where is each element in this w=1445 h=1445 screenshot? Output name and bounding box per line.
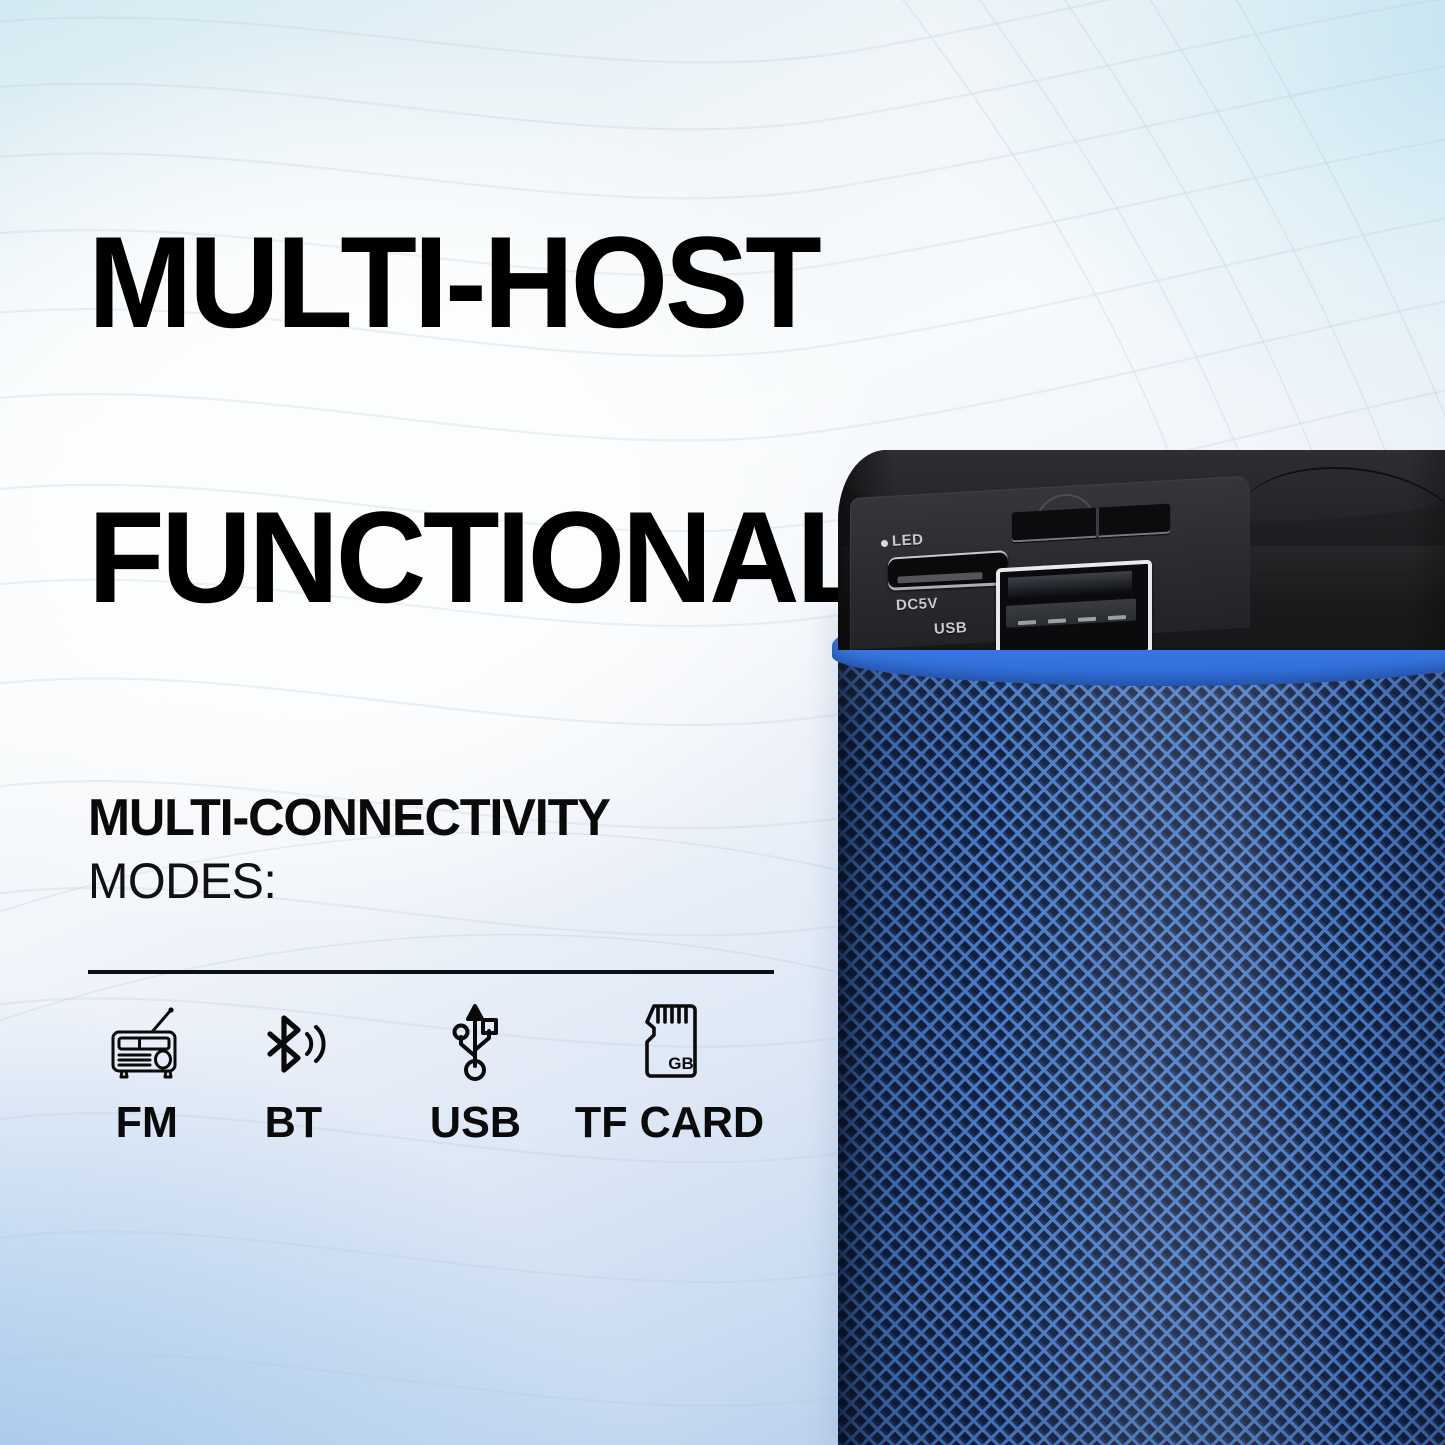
micro-usb-charging-port: [888, 550, 1007, 591]
product-image-speaker: LED DC5V TF USB: [838, 450, 1445, 1445]
mode-label-bt: BT: [264, 1098, 321, 1148]
radio-icon: [108, 1000, 186, 1084]
port-label-led: LED: [892, 531, 924, 550]
section-divider: [88, 970, 774, 974]
led-indicator-dot: [881, 540, 888, 547]
section-subtitle: MODES:: [88, 856, 767, 906]
port-label-usb: USB: [934, 619, 968, 638]
port-label-dc5v: DC5V: [896, 595, 939, 614]
product-feature-banner: MULTI-HOST FUNCTIONALITY MULTI-CONNECTIV…: [0, 0, 1445, 1445]
list-item-usb: USB: [380, 1000, 570, 1148]
bluetooth-icon: [258, 1000, 328, 1084]
memory-card-capacity-label: GB: [668, 1054, 694, 1073]
section-title: MULTI-CONNECTIVITY: [88, 792, 767, 844]
list-item-fm: FM: [88, 1000, 206, 1148]
speaker-ports: LED DC5V TF USB: [838, 450, 1445, 650]
list-item-tf-card: GB TF CARD: [570, 1000, 770, 1148]
connectivity-modes-list: FM BT: [88, 1000, 788, 1148]
speaker-top-cap: LED DC5V TF USB: [838, 450, 1445, 650]
speaker-mesh-grille: [838, 632, 1445, 1445]
usb-port-highlight: [1008, 571, 1132, 600]
tf-card-slot: [1012, 504, 1170, 543]
headline-line-1: MULTI-HOST: [88, 219, 1343, 346]
connectivity-section: MULTI-CONNECTIVITY MODES:: [88, 792, 788, 906]
usb-icon: [442, 1000, 508, 1084]
memory-card-icon: GB: [637, 1000, 703, 1084]
usb-a-port: [996, 560, 1152, 650]
list-item-bt: BT: [206, 1000, 380, 1148]
mesh-vertical-shading: [838, 632, 1445, 1445]
mode-label-tf-card: TF CARD: [575, 1098, 764, 1148]
mode-label-usb: USB: [429, 1098, 520, 1148]
mode-label-fm: FM: [116, 1098, 178, 1148]
